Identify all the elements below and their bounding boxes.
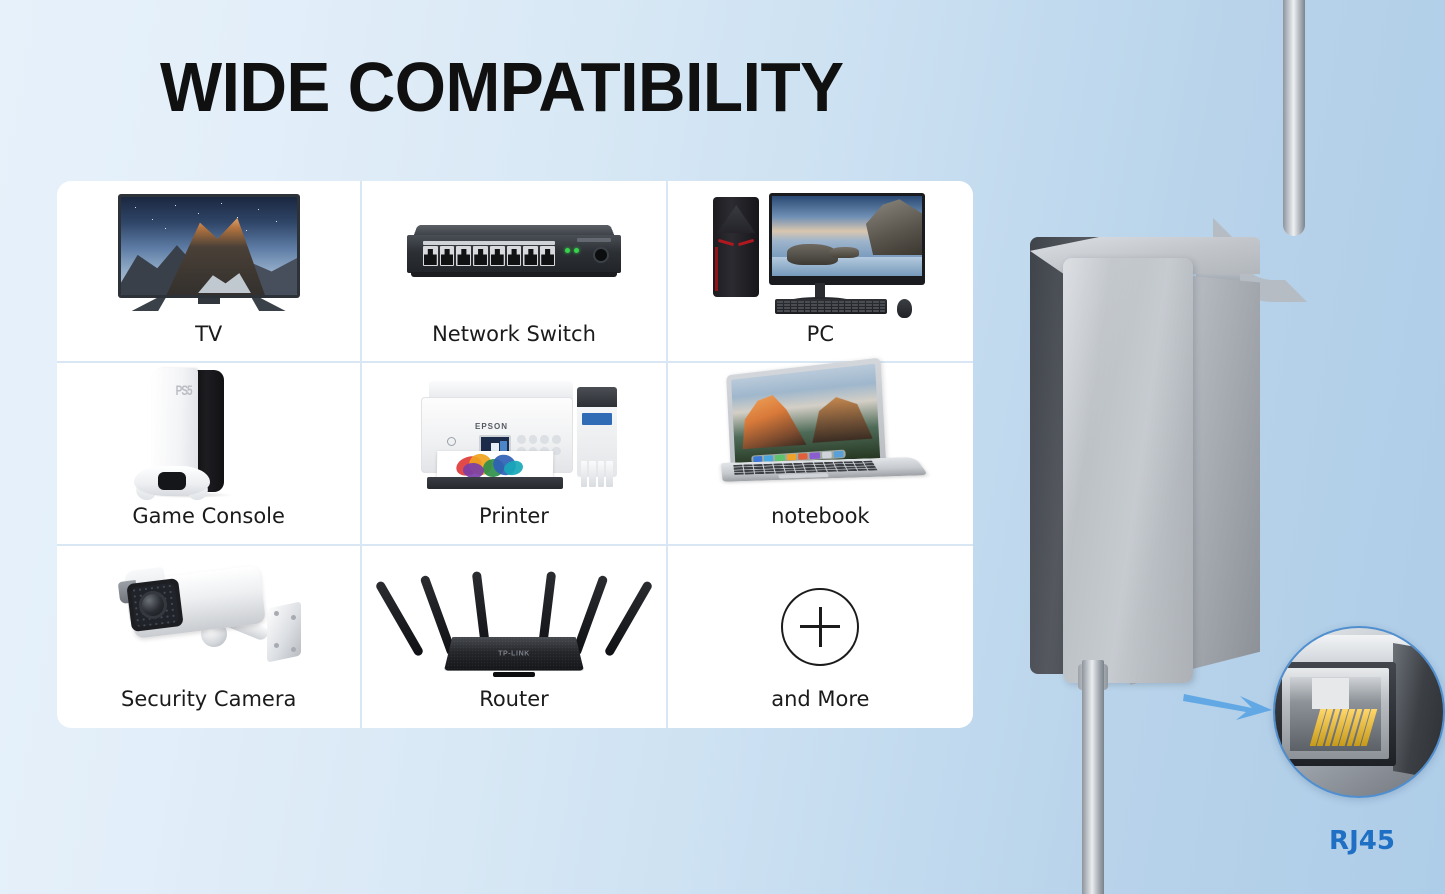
compat-cell-printer: EPSON Printer [362,363,667,545]
printer-icon: EPSON [362,371,665,499]
desktop-computer-icon [668,189,973,317]
network-switch-icon [362,189,665,317]
compat-cell-pc: PC [668,181,973,363]
compat-cell-router: TP-LINK Router [362,546,667,728]
rj45-label: RJ45 [1307,826,1417,856]
security-camera-icon [57,554,360,682]
compat-label: TV [195,321,222,347]
compat-cell-security-camera: Security Camera [57,546,362,728]
compat-cell-and-more: and More [668,546,973,728]
rj45-callout-circle [1273,626,1445,798]
compat-label: Network Switch [432,321,596,347]
compat-cell-notebook: notebook [668,363,973,545]
infographic-canvas: WIDE COMPATIBILITY [0,0,1445,894]
compat-cell-game-console: PS5 Game Console [57,363,362,545]
compat-label: Router [479,686,549,712]
compatibility-grid: TV [57,181,973,728]
compat-label: PC [807,321,834,347]
laptop-icon [668,371,973,499]
compat-label: Printer [479,503,549,529]
television-icon [57,189,360,317]
ethernet-cable-bottom [1082,660,1104,894]
compat-label: and More [771,686,869,712]
page-title: WIDE COMPATIBILITY [160,46,844,128]
compat-label: Security Camera [121,686,296,712]
plus-in-circle-icon [668,554,973,682]
callout-arrow-icon [1182,688,1274,722]
device-highlight [1063,258,1193,683]
ethernet-cable-top [1283,0,1305,236]
compat-label: Game Console [132,503,285,529]
compat-cell-network-switch: Network Switch [362,181,667,363]
game-console-icon: PS5 [57,371,360,499]
compat-cell-tv: TV [57,181,362,363]
wifi-router-icon: TP-LINK [362,554,665,682]
compat-label: notebook [771,503,870,529]
